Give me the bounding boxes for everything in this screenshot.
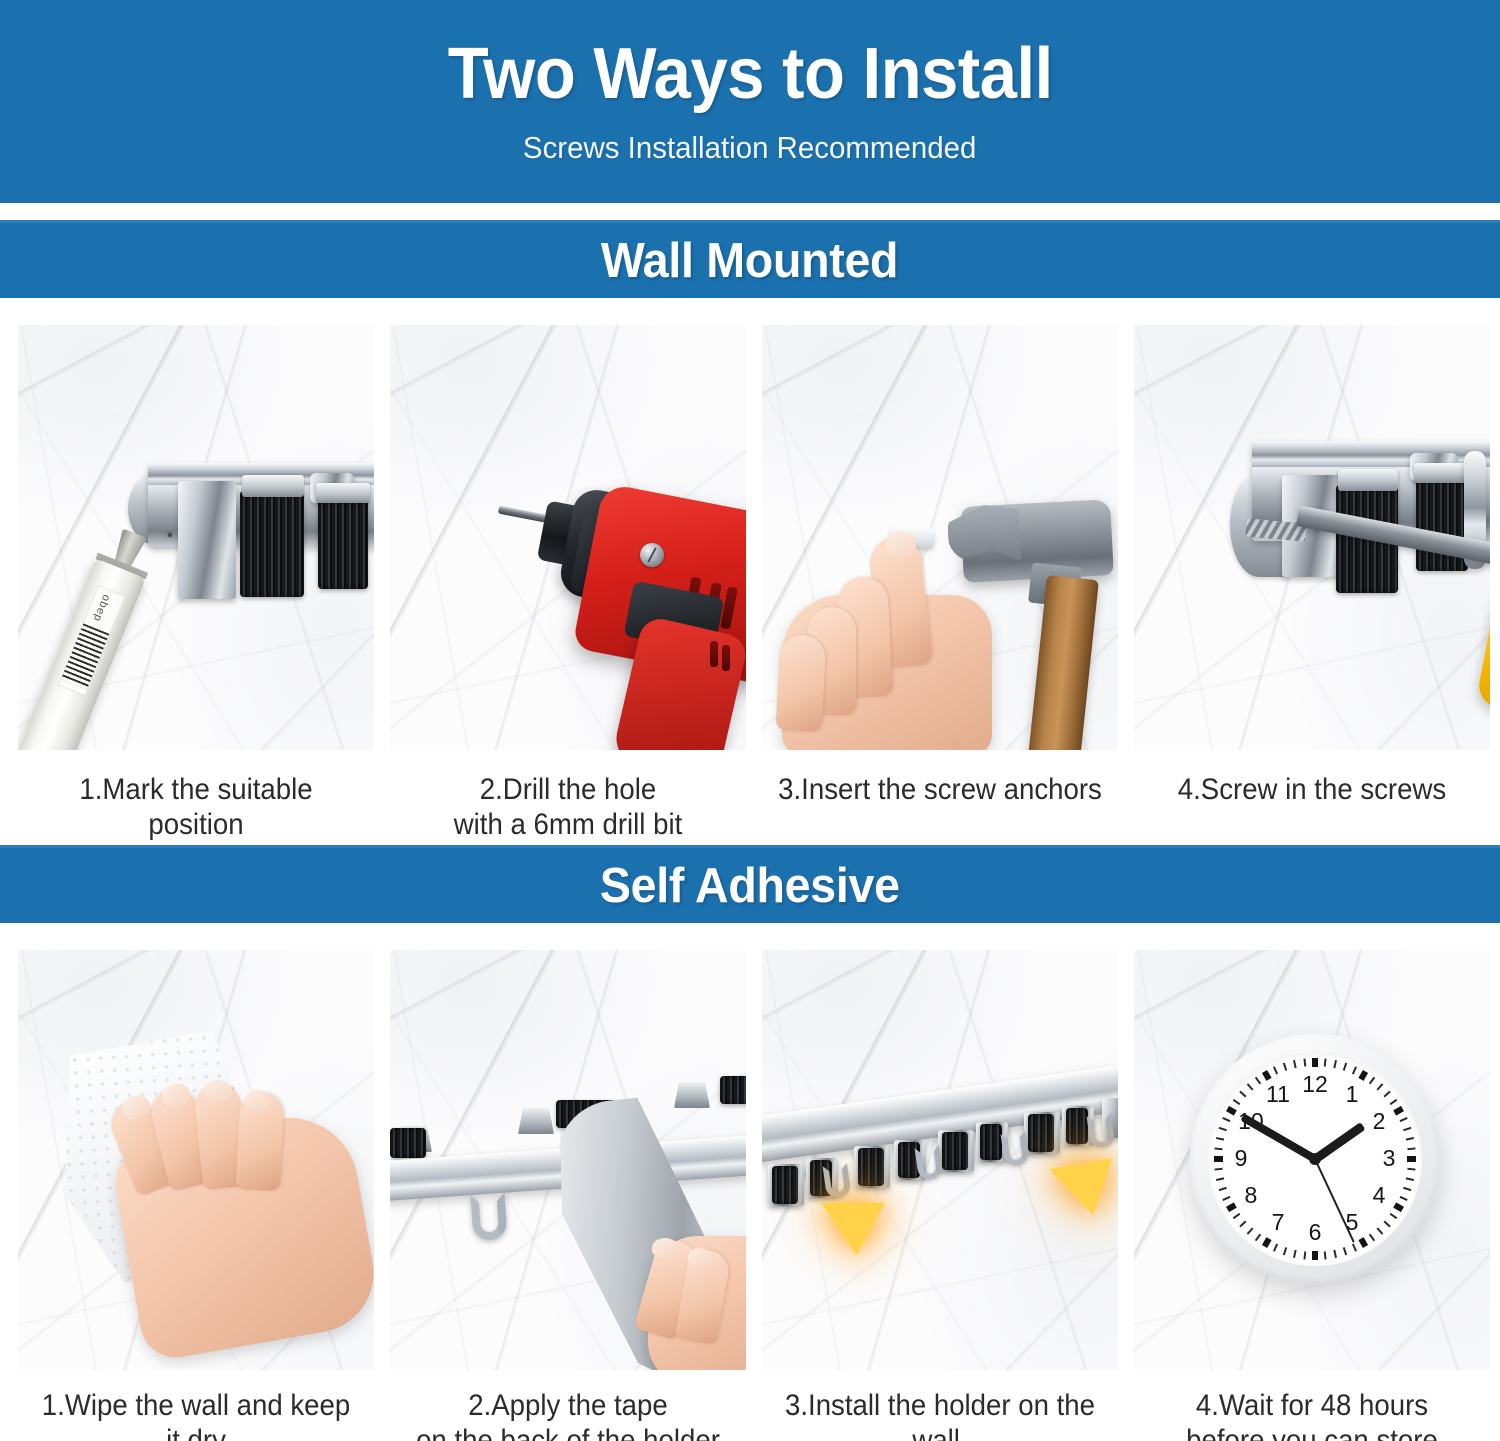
step-caption-7: 3.Install the holder on the wall, press …: [776, 1388, 1104, 1441]
step-photo-hand-wiping-wall-with-cloth: [18, 950, 374, 1370]
step-card-8: 121234567891011 4.Wait for 48 hours befo…: [1134, 950, 1490, 1441]
position-mark: [168, 533, 172, 537]
clock-tick: [1233, 1099, 1241, 1105]
step-photo-mounted-rail-with-press-arrows: [762, 950, 1118, 1370]
infographic-page: Two Ways to Install Screws Installation …: [0, 0, 1500, 1441]
step-photo-screwdriver-driving-screw: [1134, 325, 1490, 750]
clock-tick: [1376, 1083, 1383, 1090]
clock-tick: [1262, 1070, 1272, 1081]
steps-row-wall-mounted: obep 1.Mark the suitable position: [18, 325, 1485, 843]
step-card-2: 2.Drill the hole with a 6mm drill bit: [390, 325, 746, 843]
section-band-wall-mounted: Wall Mounted: [0, 220, 1500, 298]
clock-tick: [1255, 1234, 1261, 1242]
clock-tick: [1407, 1156, 1416, 1162]
clock-tick: [1273, 1244, 1278, 1252]
section-band-self-adhesive: Self Adhesive: [0, 845, 1500, 923]
clock-tick: [1222, 1117, 1230, 1122]
clock-tick: [1358, 1070, 1368, 1081]
step-photo-wall-clock: 121234567891011: [1134, 950, 1490, 1370]
clock-tick: [1214, 1147, 1222, 1150]
step-photo-hand-applying-tape-to-rail: [390, 950, 746, 1370]
clock-tick: [1214, 1156, 1223, 1162]
step-photo-hand-anchor-hammer: [762, 325, 1118, 750]
clock-numeral-7: 7: [1261, 1211, 1295, 1234]
clock-tick: [1312, 1251, 1318, 1260]
clock-numeral-11: 11: [1261, 1083, 1295, 1106]
clock-tick: [1403, 1187, 1411, 1191]
page-subtitle: Screws Installation Recommended: [523, 130, 976, 166]
clock-tick: [1343, 1247, 1347, 1255]
clock-tick: [1383, 1091, 1390, 1098]
step-caption-3: 3.Insert the screw anchors: [776, 772, 1104, 807]
step-card-3: 3.Insert the screw anchors: [762, 325, 1118, 843]
clock-tick: [1390, 1213, 1398, 1219]
clock-tick: [1262, 1237, 1272, 1248]
clock-tick: [1239, 1091, 1246, 1098]
clock-tick: [1219, 1187, 1227, 1191]
clock-tick: [1273, 1066, 1278, 1074]
clock-tick: [1369, 1234, 1375, 1242]
clock-tick: [1324, 1251, 1327, 1259]
clock-tick: [1324, 1058, 1327, 1066]
step-card-4: 4.Screw in the screws: [1134, 325, 1490, 843]
clock-tick: [1352, 1244, 1357, 1252]
section-title-self-adhesive: Self Adhesive: [600, 858, 900, 914]
step-card-1: obep 1.Mark the suitable position: [18, 325, 374, 843]
clock-tick: [1383, 1220, 1390, 1227]
clock-tick: [1247, 1227, 1254, 1234]
clock-numeral-2: 2: [1362, 1110, 1396, 1133]
clock-tick: [1222, 1196, 1230, 1201]
clock-tick: [1239, 1220, 1246, 1227]
clock-tick: [1403, 1127, 1411, 1131]
clock-face: 121234567891011: [1208, 1052, 1422, 1266]
step-photo-wrap-7: 3.Install the holder on the wall, press …: [762, 950, 1118, 1441]
hero-banner: Two Ways to Install Screws Installation …: [0, 0, 1500, 203]
step-caption-5: 1.Wipe the wall and keep it dry: [32, 1388, 360, 1441]
clock-tick: [1376, 1227, 1383, 1234]
clock-tick: [1303, 1251, 1306, 1259]
clock-tick: [1312, 1058, 1318, 1067]
clock-numeral-1: 1: [1335, 1083, 1369, 1106]
clock-tick: [1283, 1247, 1287, 1255]
clock-numeral-6: 6: [1298, 1221, 1332, 1244]
clock-tick: [1293, 1250, 1297, 1258]
clock-tick: [1303, 1058, 1306, 1066]
clock-numeral-8: 8: [1234, 1184, 1268, 1207]
clock-tick: [1390, 1099, 1398, 1105]
clock-tick: [1333, 1250, 1337, 1258]
step-caption-6: 2.Apply the tape on the back of the hold…: [404, 1388, 732, 1441]
step-caption-8: 4.Wait for 48 hours before you can store: [1148, 1388, 1476, 1441]
clock-numeral-12: 12: [1298, 1073, 1332, 1096]
clock-tick: [1406, 1137, 1414, 1141]
clock-tick: [1293, 1060, 1297, 1068]
clock-tick: [1216, 1137, 1224, 1141]
steps-row-self-adhesive: 1.Wipe the wall and keep it dry: [18, 950, 1485, 1441]
clock-tick: [1219, 1127, 1227, 1131]
clock-numeral-9: 9: [1224, 1147, 1258, 1170]
clock-tick: [1369, 1077, 1375, 1085]
wall-clock: 121234567891011: [1190, 1034, 1440, 1284]
clock-tick: [1343, 1063, 1347, 1071]
clock-center-hub: [1309, 1153, 1321, 1165]
step-caption-4: 4.Screw in the screws: [1148, 772, 1476, 807]
clock-tick: [1400, 1117, 1408, 1122]
clock-tick: [1216, 1177, 1224, 1181]
clock-tick: [1333, 1060, 1337, 1068]
clock-tick: [1247, 1083, 1254, 1090]
hook-icon: [470, 1193, 507, 1241]
clock-numeral-3: 3: [1372, 1147, 1406, 1170]
step-photo-power-drill-drilling-wall: [390, 325, 746, 750]
step-caption-2: 2.Drill the hole with a 6mm drill bit: [404, 772, 732, 843]
clock-numeral-4: 4: [1362, 1184, 1396, 1207]
step-card-5: 1.Wipe the wall and keep it dry: [18, 950, 374, 1441]
clock-tick: [1407, 1168, 1415, 1171]
clock-tick: [1407, 1147, 1415, 1150]
clock-tick: [1400, 1196, 1408, 1201]
clock-tick: [1352, 1066, 1357, 1074]
clock-tick: [1214, 1168, 1222, 1171]
page-title: Two Ways to Install: [447, 38, 1052, 110]
clock-tick: [1233, 1213, 1241, 1219]
clock-tick: [1358, 1237, 1368, 1248]
step-caption-1: 1.Mark the suitable position: [32, 772, 360, 843]
section-title-wall-mounted: Wall Mounted: [601, 233, 898, 289]
step-photo-marker-pen-marking-wall: obep: [18, 325, 374, 750]
step-card-6: 2.Apply the tape on the back of the hold…: [390, 950, 746, 1441]
clock-tick: [1406, 1177, 1414, 1181]
clock-tick: [1283, 1063, 1287, 1071]
